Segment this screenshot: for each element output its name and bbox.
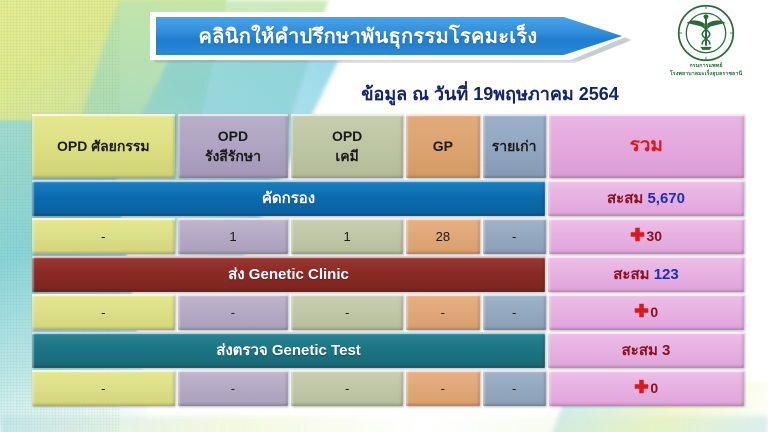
total-text: 30 — [630, 227, 662, 245]
total-cell-genetic-clinic: สะสม 123 — [548, 256, 744, 292]
ministry-logo-block: กรมการแพทย์ โรงพยาบาลมะเร็งอุบลราชธานี — [650, 4, 762, 78]
page-title: คลินิกให้คำปรึกษาพันธุกรรมโรคมะเร็ง — [198, 20, 579, 52]
merged-bar-genetic-clinic: ส่ง Genetic Clinic — [32, 256, 545, 292]
total-text: 0 — [634, 303, 658, 321]
header-line1: OPD — [218, 126, 248, 146]
red-cross-icon — [634, 303, 649, 321]
total-text: สะสม 123 — [613, 262, 678, 286]
total-value: 123 — [654, 266, 679, 283]
logo-caption-line1: กรมการแพทย์ — [650, 63, 762, 70]
cell-opd-chemo: 1 — [291, 218, 403, 254]
table-row: ส่งตรวจ Genetic Test สะสม 3 — [32, 332, 744, 368]
cell-gp: - — [406, 294, 480, 330]
total-cell-screening: สะสม 5,670 — [548, 180, 744, 216]
header-line1: OPD — [332, 126, 362, 146]
total-prefix: สะสม — [607, 190, 643, 207]
wash-bottom-strip — [0, 416, 768, 432]
total-text: 0 — [634, 379, 658, 397]
total-value: 5,670 — [647, 190, 685, 207]
logo-caption-line2: โรงพยาบาลมะเร็งอุบลราชธานี — [650, 71, 762, 78]
table-row: - - - - - 0 — [32, 294, 744, 330]
table-header-opd-surgery: OPD ศัลยกรรม — [32, 114, 175, 178]
table-header-row: OPD ศัลยกรรม OPD รังสีรักษา OPD เคมี GP — [32, 114, 744, 178]
cell-existing-cases: - — [483, 370, 546, 406]
data-as-of-subtitle: ข้อมูล ณ วันที่ 19พฤษภาคม 2564 — [330, 79, 650, 108]
cell-opd-surgery: - — [32, 218, 175, 254]
total-value: 3 — [662, 342, 670, 359]
header-line1: GP — [433, 136, 453, 156]
total-value: 0 — [650, 380, 658, 396]
header-line1: รวม — [630, 132, 663, 160]
header-line1: OPD ศัลยกรรม — [57, 136, 150, 156]
cell-opd-radiation: 1 — [178, 218, 289, 254]
header-line2: เคมี — [335, 146, 358, 166]
total-prefix: สะสม — [622, 342, 658, 359]
total-cell-genetic-test: สะสม 3 — [548, 332, 744, 368]
ministry-of-public-health-seal-icon — [677, 4, 735, 62]
table-row: คัดกรอง สะสม 5,670 — [32, 180, 744, 216]
cell-gp: - — [406, 370, 480, 406]
cell-existing-cases: - — [483, 294, 546, 330]
cell-opd-radiation: - — [178, 370, 289, 406]
title-banner-fill: คลินิกให้คำปรึกษาพันธุกรรมโรคมะเร็ง — [156, 17, 622, 55]
total-prefix: สะสม — [613, 266, 649, 283]
table-row: - - - - - 0 — [32, 370, 744, 406]
table-header-total: รวม — [549, 114, 744, 178]
table-header-opd-chemo: OPD เคมี — [291, 114, 403, 178]
title-banner: คลินิกให้คำปรึกษาพันธุกรรมโรคมะเร็ง — [150, 12, 628, 60]
cell-opd-chemo: - — [291, 370, 403, 406]
total-value: 0 — [650, 304, 658, 320]
bar-label: ส่งตรวจ Genetic Test — [216, 338, 361, 362]
red-cross-icon — [634, 379, 649, 397]
total-cell-new: 30 — [549, 218, 744, 254]
cell-opd-radiation: - — [178, 294, 289, 330]
total-text: สะสม 3 — [622, 338, 671, 362]
merged-bar-screening: คัดกรอง — [32, 180, 545, 216]
bar-label: ส่ง Genetic Clinic — [228, 262, 349, 286]
cell-gp: 28 — [406, 218, 480, 254]
cell-opd-surgery: - — [32, 294, 175, 330]
total-text: สะสม 5,670 — [607, 186, 685, 210]
table-header-gp: GP — [406, 114, 480, 178]
table-row: ส่ง Genetic Clinic สะสม 123 — [32, 256, 744, 292]
table-header-existing-cases: รายเก่า — [483, 114, 546, 178]
header-line1: รายเก่า — [492, 136, 537, 156]
red-cross-icon — [630, 227, 645, 245]
clinic-summary-table: OPD ศัลยกรรม OPD รังสีรักษา OPD เคมี GP — [32, 114, 744, 408]
cell-opd-chemo: - — [291, 294, 403, 330]
cell-existing-cases: - — [483, 218, 546, 254]
table-row: - 1 1 28 - 30 — [32, 218, 744, 254]
cell-opd-surgery: - — [32, 370, 175, 406]
total-value: 30 — [646, 228, 662, 244]
bar-label: คัดกรอง — [262, 186, 315, 210]
header-line2: รังสีรักษา — [205, 146, 261, 166]
merged-bar-genetic-test: ส่งตรวจ Genetic Test — [32, 332, 545, 368]
total-cell-new: 0 — [549, 294, 744, 330]
table-header-opd-radiation: OPD รังสีรักษา — [178, 114, 289, 178]
slide-canvas: คลินิกให้คำปรึกษาพันธุกรรมโรคมะเร็ง ข้อม… — [0, 0, 768, 432]
total-cell-new: 0 — [549, 370, 744, 406]
